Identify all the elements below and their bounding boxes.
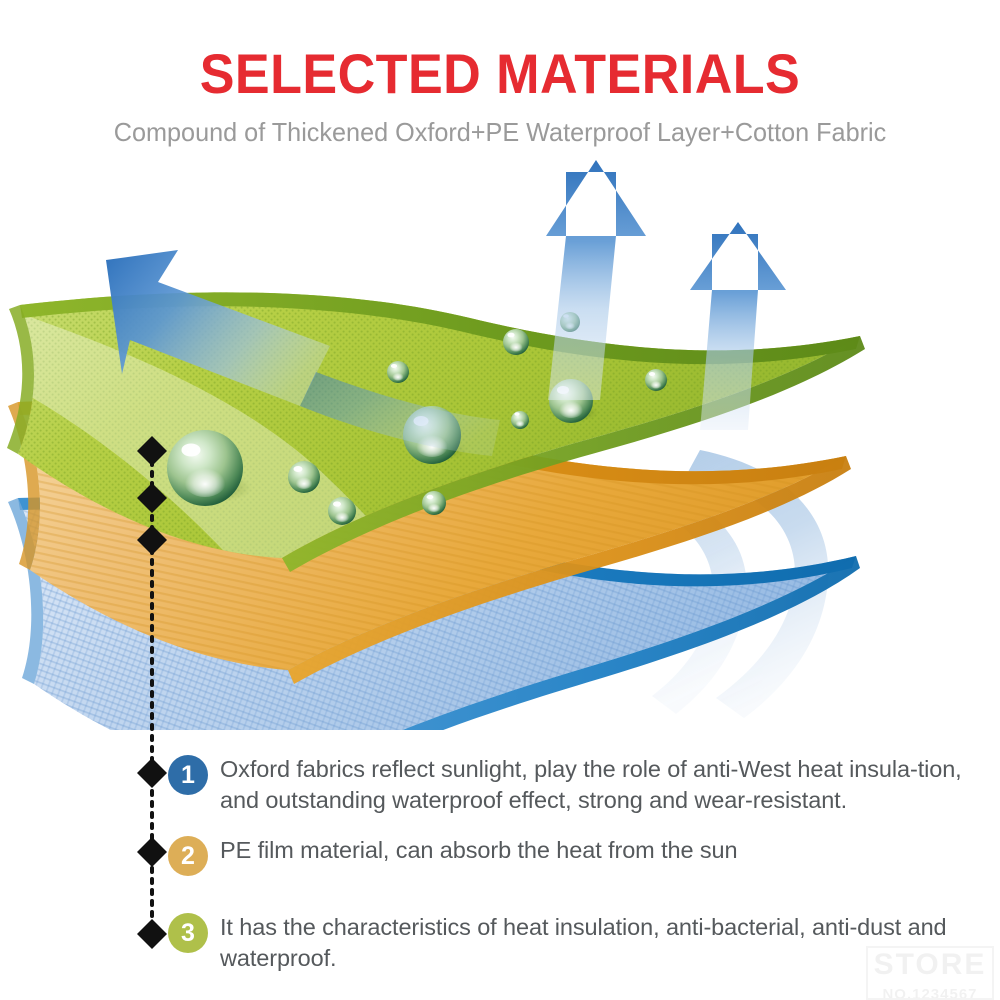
legend-item-3[interactable]: 3 It has the characteristics of heat ins… xyxy=(168,912,980,974)
store-watermark: STORE NO.1234567 xyxy=(866,946,994,1000)
watermark-line1: STORE xyxy=(874,948,987,981)
legend-list: 1 Oxford fabrics reflect sunlight, play … xyxy=(0,740,1000,970)
legend-item-2[interactable]: 2 PE film material, can absorb the heat … xyxy=(168,835,737,876)
legend-badge-2: 2 xyxy=(168,836,208,876)
header: SELECTED MATERIALS Compound of Thickened… xyxy=(0,0,1000,147)
legend-badge-1: 1 xyxy=(168,755,208,795)
page-subtitle: Compound of Thickened Oxford+PE Waterpro… xyxy=(15,104,985,147)
page-title: SELECTED MATERIALS xyxy=(35,0,965,104)
heat-escape-arrow-right xyxy=(690,222,786,430)
layered-material-diagram xyxy=(0,150,1000,730)
legend-badge-3: 3 xyxy=(168,913,208,953)
legend-item-1[interactable]: 1 Oxford fabrics reflect sunlight, play … xyxy=(168,754,980,816)
legend-text-2: PE film material, can absorb the heat fr… xyxy=(220,835,737,866)
watermark-line2: NO.1234567 xyxy=(868,980,992,1000)
legend-text-1: Oxford fabrics reflect sunlight, play th… xyxy=(220,754,980,816)
